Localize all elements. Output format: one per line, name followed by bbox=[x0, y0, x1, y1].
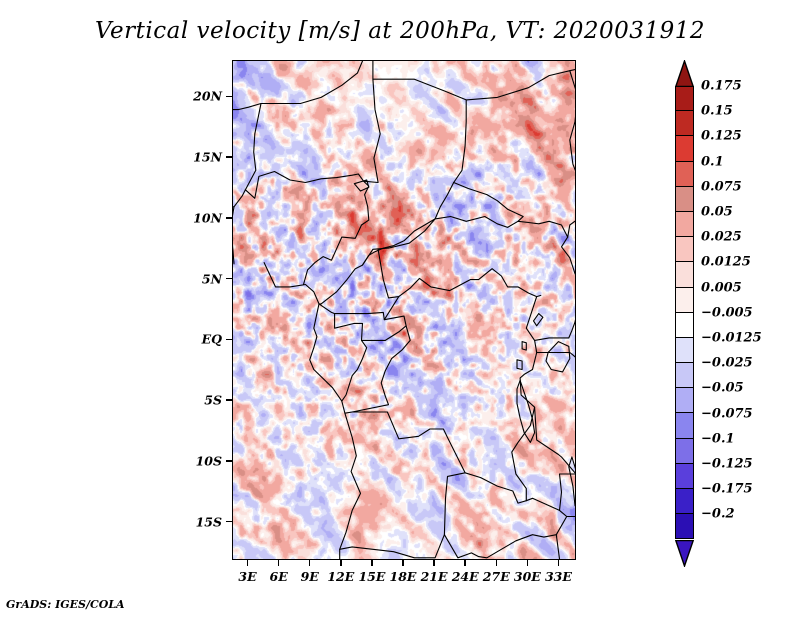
footer-credit: GrADS: IGES/COLA bbox=[6, 598, 125, 611]
colorbar-tick-label: 0.125 bbox=[701, 129, 742, 144]
vertical-velocity-heatmap bbox=[233, 61, 575, 559]
colorbar-tick-label: 0.075 bbox=[701, 179, 742, 194]
colorbar-tick-label: 0.005 bbox=[701, 280, 742, 295]
colorbar-tick-label: 0.175 bbox=[701, 79, 742, 94]
colorbar-extend-top-arrow bbox=[675, 60, 694, 87]
y-axis-label: 15S bbox=[182, 514, 222, 529]
colorbar-segment bbox=[675, 413, 694, 438]
y-axis-label: 15N bbox=[182, 150, 222, 165]
y-axis-label: EQ bbox=[182, 332, 222, 347]
y-axis-label: 10S bbox=[182, 453, 222, 468]
x-axis-tick bbox=[371, 560, 373, 566]
colorbar-segment bbox=[675, 136, 694, 161]
colorbar-segments bbox=[675, 86, 694, 539]
x-axis-tick bbox=[433, 560, 435, 566]
colorbar-segment bbox=[675, 111, 694, 136]
colorbar-segment bbox=[675, 288, 694, 313]
y-axis-tick bbox=[226, 156, 232, 158]
y-axis-label: 20N bbox=[182, 89, 222, 104]
colorbar-segment bbox=[675, 338, 694, 363]
colorbar-segment bbox=[675, 363, 694, 388]
colorbar-segment bbox=[675, 464, 694, 489]
y-axis-tick bbox=[226, 217, 232, 219]
y-axis-tick bbox=[226, 339, 232, 341]
colorbar-tick-label: −0.175 bbox=[701, 482, 753, 497]
x-axis-tick bbox=[340, 560, 342, 566]
colorbar-tick-label: 0.15 bbox=[701, 104, 733, 119]
colorbar-extend-bottom-arrow bbox=[675, 540, 694, 567]
x-axis-tick bbox=[402, 560, 404, 566]
y-axis-tick bbox=[226, 399, 232, 401]
colorbar-segment bbox=[675, 262, 694, 287]
colorbar-segment bbox=[675, 162, 694, 187]
y-axis-tick bbox=[226, 96, 232, 98]
y-axis-tick bbox=[226, 278, 232, 280]
colorbar-segment bbox=[675, 489, 694, 514]
x-axis-tick bbox=[278, 560, 280, 566]
colorbar-segment bbox=[675, 237, 694, 262]
x-axis-tick bbox=[309, 560, 311, 566]
y-axis-label: 10N bbox=[182, 210, 222, 225]
y-axis-tick bbox=[226, 521, 232, 523]
colorbar-segment bbox=[675, 514, 694, 539]
y-axis-tick bbox=[226, 460, 232, 462]
map-plot-panel bbox=[232, 60, 576, 560]
x-axis-tick bbox=[496, 560, 498, 566]
colorbar-segment bbox=[675, 439, 694, 464]
x-axis-label: 33E bbox=[536, 569, 580, 584]
colorbar-segment bbox=[675, 187, 694, 212]
colorbar-segment bbox=[675, 388, 694, 413]
page-title: Vertical velocity [m/s] at 200hPa, VT: 2… bbox=[0, 18, 800, 44]
colorbar-tick-label: 0.1 bbox=[701, 154, 724, 169]
colorbar-tick-label: −0.075 bbox=[701, 406, 753, 421]
colorbar-tick-label: −0.2 bbox=[701, 507, 735, 522]
colorbar-tick-label: −0.1 bbox=[701, 431, 735, 446]
colorbar-tick-label: −0.005 bbox=[701, 305, 753, 320]
x-axis-tick bbox=[527, 560, 529, 566]
colorbar-tick-label: −0.0125 bbox=[701, 331, 762, 346]
y-axis-label: 5S bbox=[182, 393, 222, 408]
x-axis-tick bbox=[247, 560, 249, 566]
colorbar-segment bbox=[675, 212, 694, 237]
colorbar-tick-label: −0.025 bbox=[701, 356, 753, 371]
colorbar-tick-label: 0.025 bbox=[701, 230, 742, 245]
colorbar-segment bbox=[675, 313, 694, 338]
colorbar-segment bbox=[675, 86, 694, 111]
colorbar-tick-label: 0.0125 bbox=[701, 255, 751, 270]
x-axis-tick bbox=[558, 560, 560, 566]
colorbar-tick-label: −0.05 bbox=[701, 381, 744, 396]
x-axis-tick bbox=[464, 560, 466, 566]
colorbar-tick-label: 0.05 bbox=[701, 205, 733, 220]
y-axis-label: 5N bbox=[182, 271, 222, 286]
colorbar-tick-label: −0.125 bbox=[701, 457, 753, 472]
